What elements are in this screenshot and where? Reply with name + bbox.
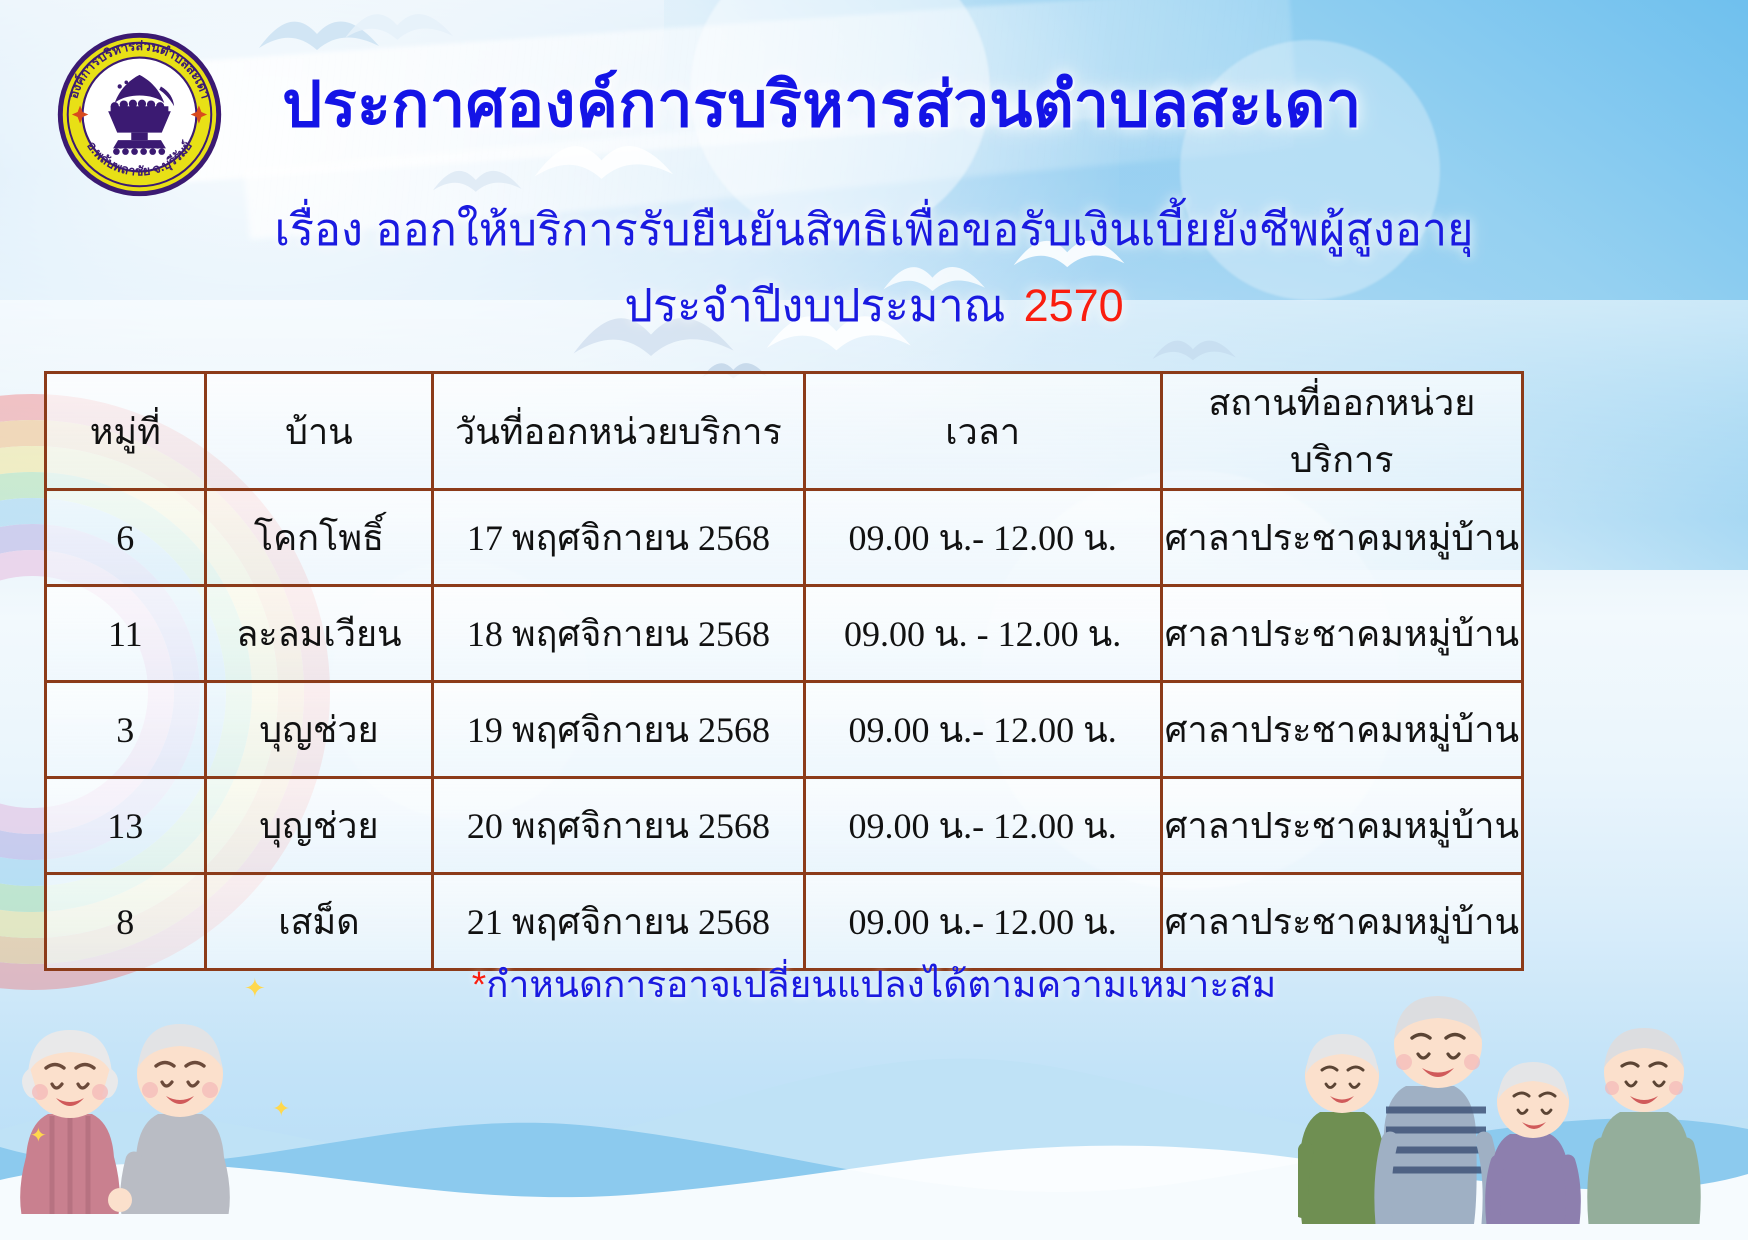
cell-time: 09.00 น. - 12.00 น.	[804, 586, 1161, 682]
cell-moo: 11	[46, 586, 206, 682]
schedule-table-wrapper: หมู่ที่ บ้าน วันที่ออกหน่วยบริการ เวลา ส…	[44, 371, 1524, 971]
page-title: ประกาศองค์การบริหารส่วนตำบลสะเดา	[232, 72, 1412, 138]
cell-village: โคกโพธิ์	[205, 490, 433, 586]
cell-date: 19 พฤศจิกายน 2568	[433, 682, 804, 778]
column-header-time: เวลา	[804, 373, 1161, 490]
column-header-date: วันที่ออกหน่วยบริการ	[433, 373, 804, 490]
cell-date: 20 พฤศจิกายน 2568	[433, 778, 804, 874]
sparkle-icon: ✦	[244, 973, 266, 1004]
seagull-icon	[530, 130, 680, 200]
footer-note-asterisk: *	[472, 964, 486, 1005]
cell-place: ศาลาประชาคมหมู่บ้าน	[1161, 682, 1522, 778]
cell-date: 18 พฤศจิกายน 2568	[433, 586, 804, 682]
column-header-village: บ้าน	[205, 373, 433, 490]
budget-year-value: 2570	[1024, 280, 1124, 331]
cell-moo: 3	[46, 682, 206, 778]
elderly-group-illustration-right	[1298, 934, 1738, 1224]
service-schedule-table: หมู่ที่ บ้าน วันที่ออกหน่วยบริการ เวลา ส…	[44, 371, 1524, 971]
seagull-icon	[1150, 330, 1240, 374]
footer-note-text: กำหนดการอาจเปลี่ยนแปลงได้ตามความเหมาะสม	[486, 964, 1276, 1005]
cell-time: 09.00 น.- 12.00 น.	[804, 682, 1161, 778]
cell-place: ศาลาประชาคมหมู่บ้าน	[1161, 586, 1522, 682]
cell-time: 09.00 น.- 12.00 น.	[804, 778, 1161, 874]
table-row: 13 บุญช่วย 20 พฤศจิกายน 2568 09.00 น.- 1…	[46, 778, 1523, 874]
organization-seal-logo: องค์การบริหารส่วนตำบลสะเดา อ.พลับพลาชัย …	[57, 32, 222, 197]
seagull-icon	[340, 2, 460, 56]
cell-time: 09.00 น.- 12.00 น.	[804, 490, 1161, 586]
table-header-row: หมู่ที่ บ้าน วันที่ออกหน่วยบริการ เวลา ส…	[46, 373, 1523, 490]
cell-moo: 13	[46, 778, 206, 874]
column-header-place: สถานที่ออกหน่วยบริการ	[1161, 373, 1522, 490]
sparkle-icon: ✦	[272, 1096, 290, 1122]
cell-moo: 6	[46, 490, 206, 586]
elderly-couple-illustration-left	[8, 964, 278, 1214]
subtitle-line-2: ประจำปีงบประมาณ2570	[0, 280, 1748, 332]
cell-village: ละลมเวียน	[205, 586, 433, 682]
table-row: 6 โคกโพธิ์ 17 พฤศจิกายน 2568 09.00 น.- 1…	[46, 490, 1523, 586]
subtitle-line-1: เรื่อง ออกให้บริการรับยืนยันสิทธิเพื่อขอ…	[0, 204, 1748, 256]
budget-year-label: ประจำปีงบประมาณ	[624, 280, 1005, 331]
cell-date: 17 พฤศจิกายน 2568	[433, 490, 804, 586]
cell-village: บุญช่วย	[205, 778, 433, 874]
column-header-moo: หมู่ที่	[46, 373, 206, 490]
sparkle-icon: ✦	[30, 1123, 47, 1148]
table-row: 11 ละลมเวียน 18 พฤศจิกายน 2568 09.00 น. …	[46, 586, 1523, 682]
cell-village: บุญช่วย	[205, 682, 433, 778]
cell-place: ศาลาประชาคมหมู่บ้าน	[1161, 778, 1522, 874]
seagull-icon	[430, 160, 526, 206]
table-row: 3 บุญช่วย 19 พฤศจิกายน 2568 09.00 น.- 12…	[46, 682, 1523, 778]
cell-place: ศาลาประชาคมหมู่บ้าน	[1161, 490, 1522, 586]
